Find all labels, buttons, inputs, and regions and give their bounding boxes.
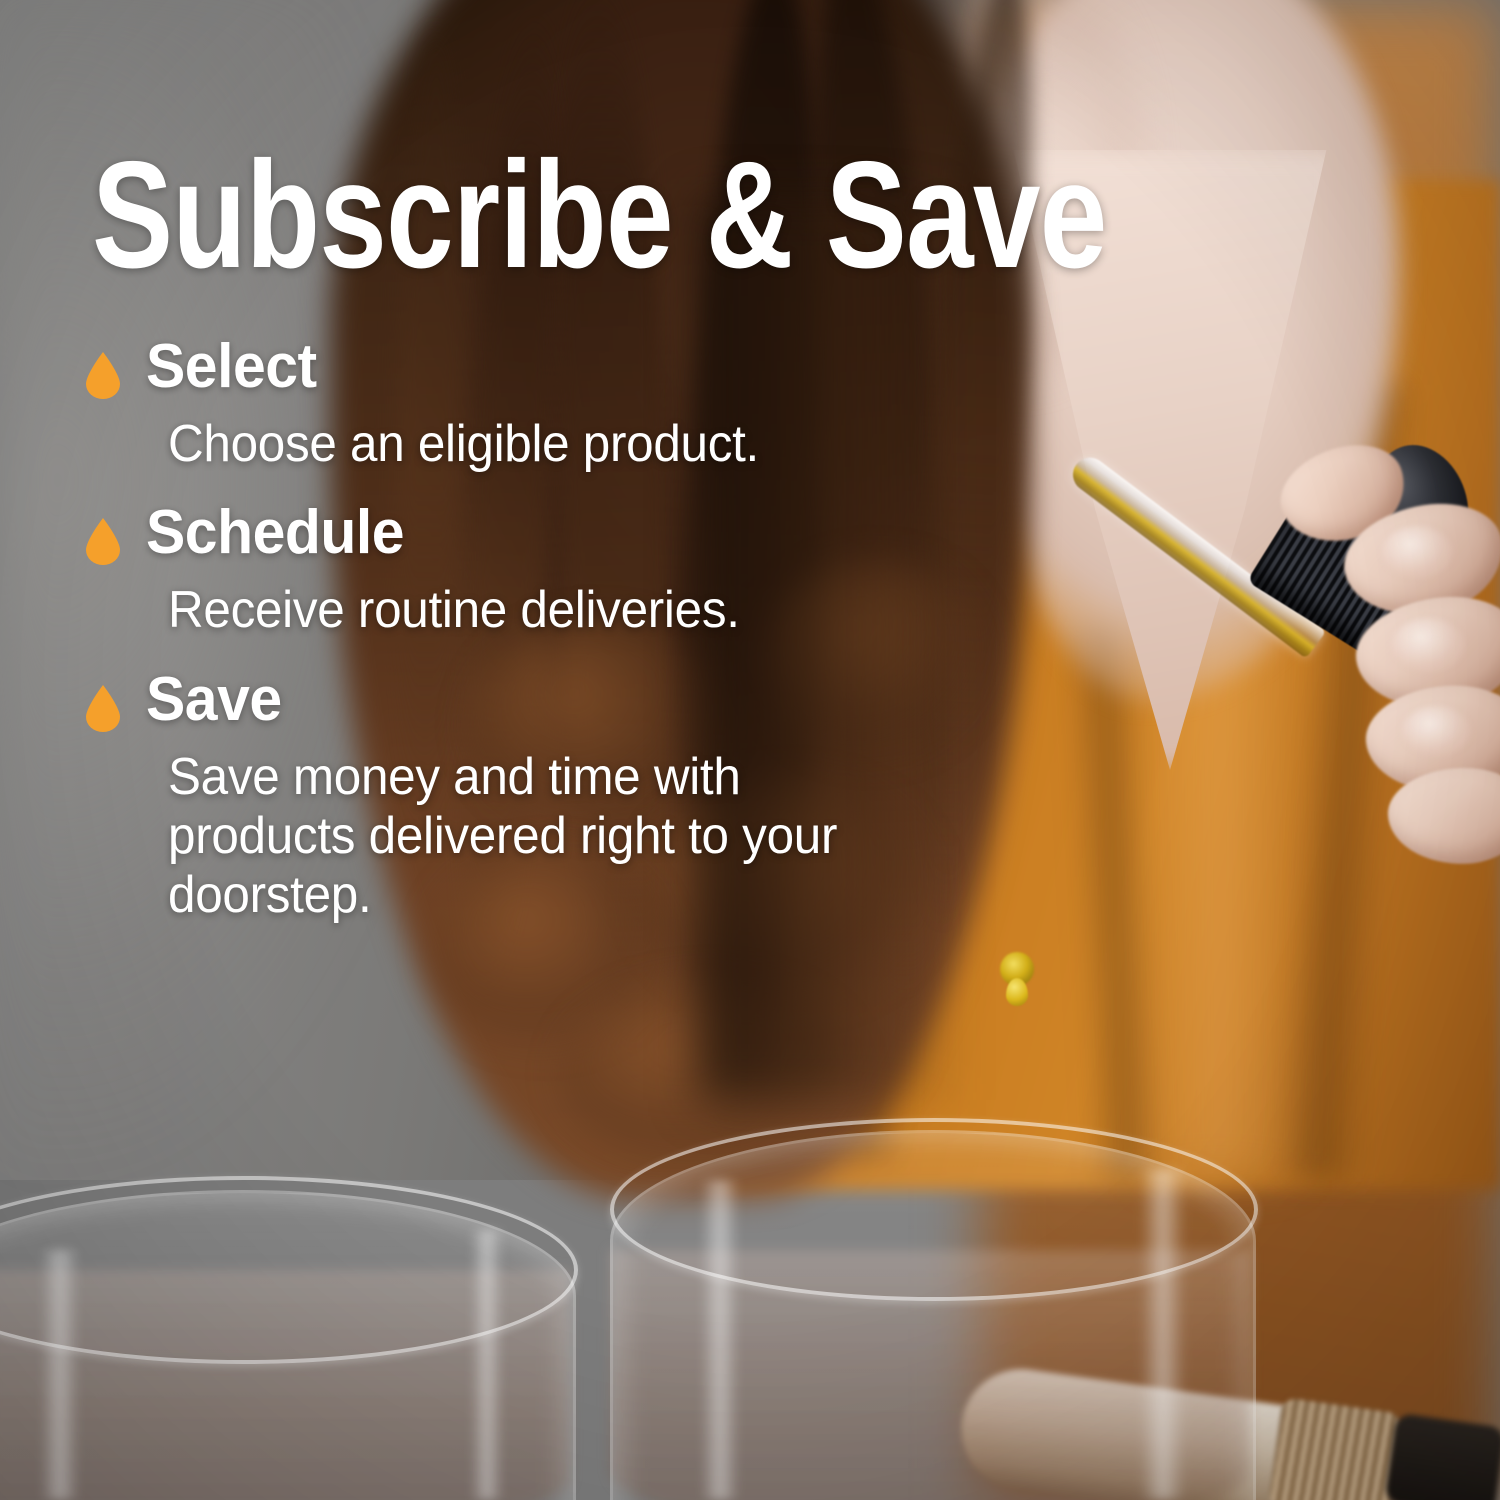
step-item: Save Save money and time with products d… [86, 671, 906, 926]
step-description: Receive routine deliveries. [168, 581, 869, 640]
steps-list: Select Choose an eligible product. Sched… [86, 338, 906, 955]
subscribe-and-save-banner: Subscribe & Save Select Choose an eligib… [0, 0, 1500, 1500]
step-description: Choose an eligible product. [168, 415, 869, 474]
step-title: Select [146, 338, 317, 397]
step-title: Save [146, 671, 282, 730]
step-heading: Schedule [86, 504, 906, 565]
oil-drop-icon [86, 685, 120, 732]
oil-drop-icon [86, 352, 120, 399]
step-description: Save money and time with products delive… [168, 748, 869, 926]
step-item: Schedule Receive routine deliveries. [86, 504, 906, 640]
step-heading: Select [86, 338, 906, 399]
oil-drop-icon [86, 518, 120, 565]
step-item: Select Choose an eligible product. [86, 338, 906, 474]
step-title: Schedule [146, 504, 404, 563]
step-heading: Save [86, 671, 906, 732]
banner-content: Subscribe & Save Select Choose an eligib… [0, 0, 1500, 1500]
banner-title: Subscribe & Save [92, 139, 1107, 291]
